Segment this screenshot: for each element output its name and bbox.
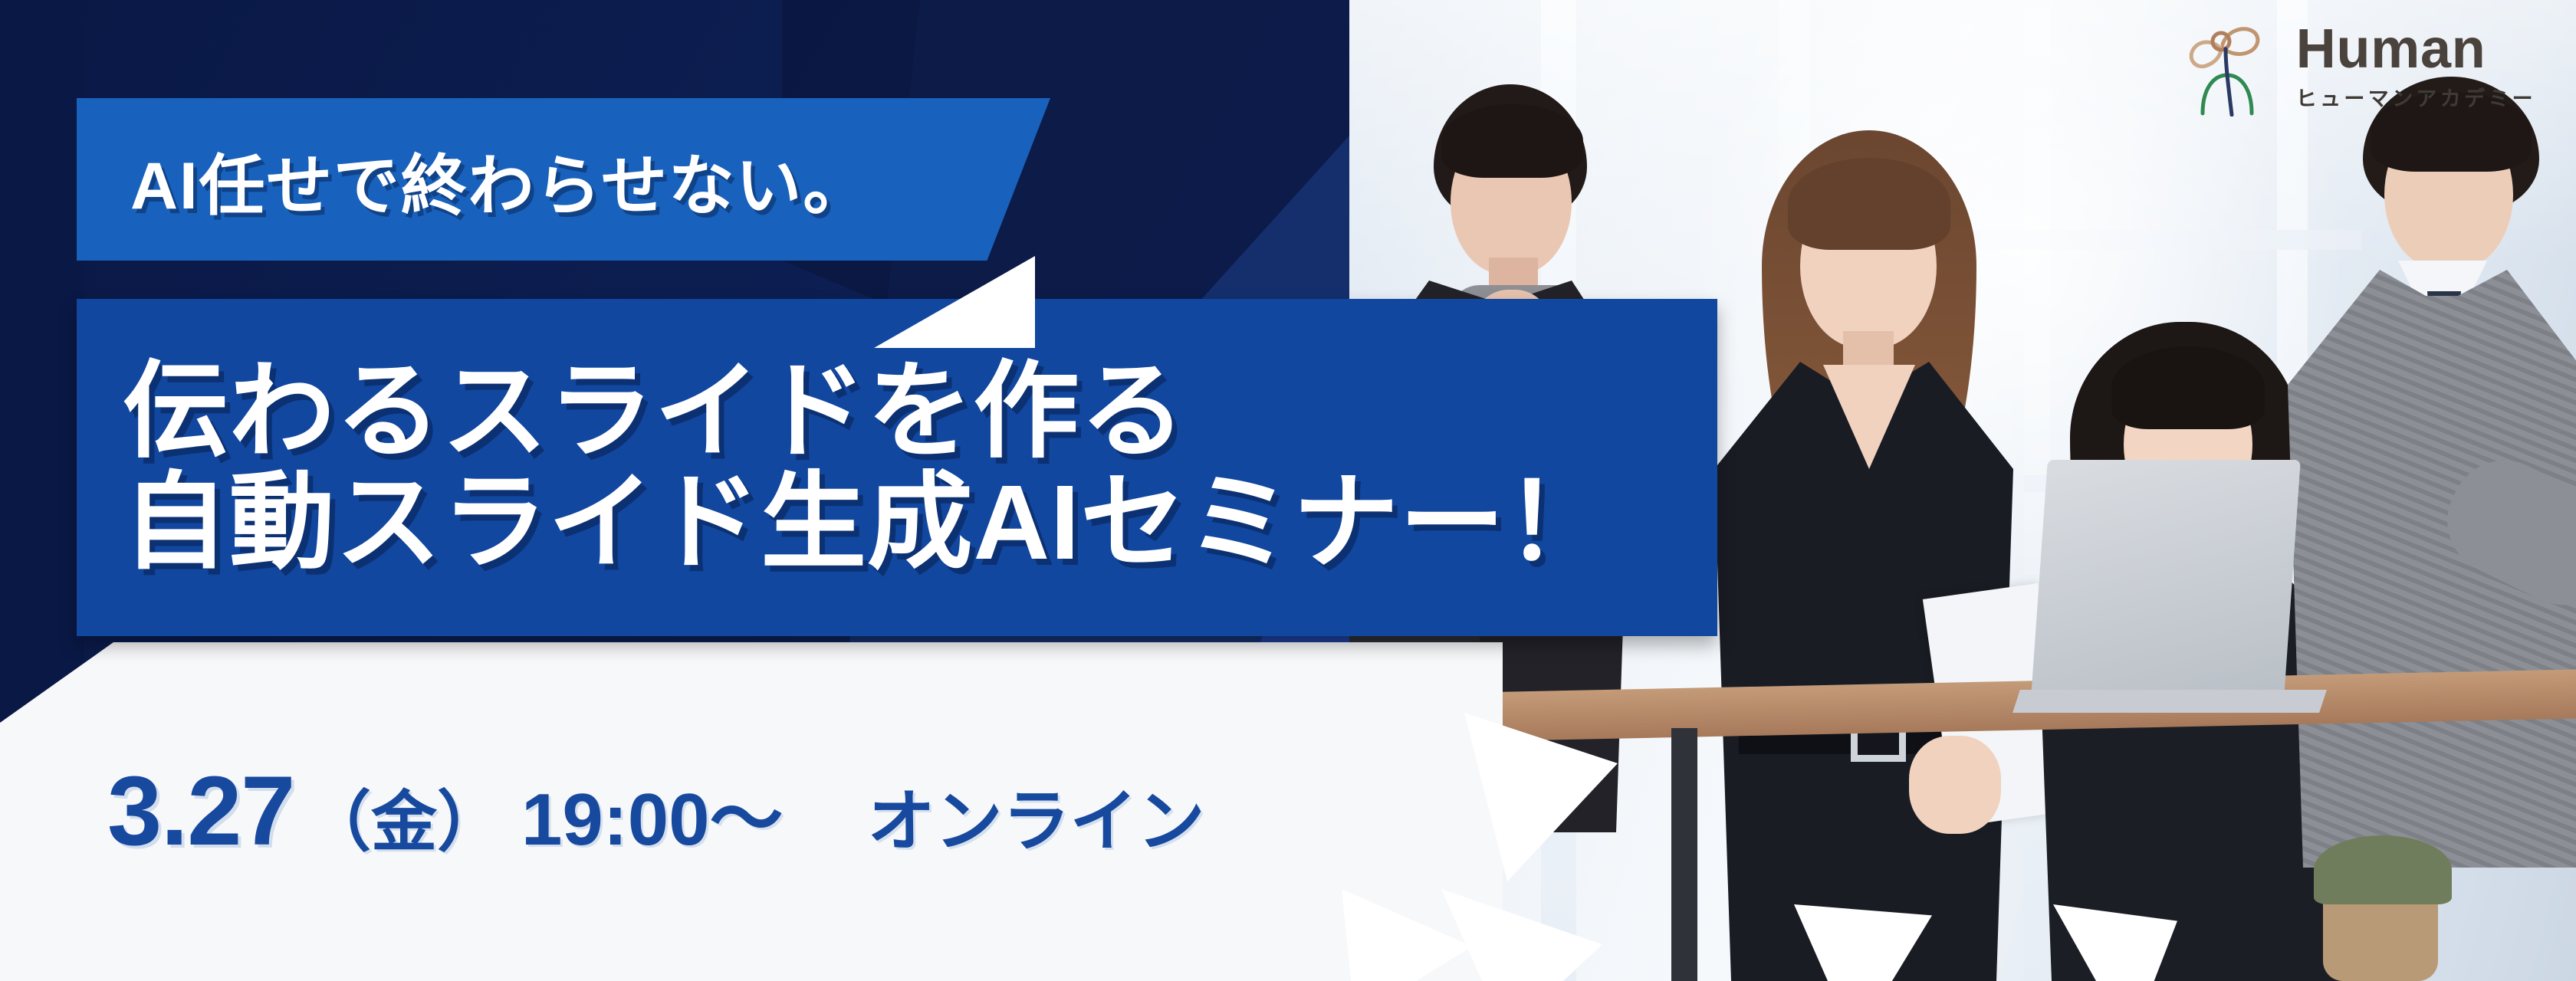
hair-front xyxy=(1788,158,1950,250)
event-details: 3.27 （金） 19:00〜 オンライン xyxy=(107,755,1205,868)
laptop-base xyxy=(2013,690,2327,713)
logo-subtext: ヒューマンアカデミー xyxy=(2296,82,2536,112)
human-academy-logo: Human ヒューマンアカデミー xyxy=(2186,18,2536,116)
hair-bangs xyxy=(2111,346,2265,429)
human-figure-loop-mark xyxy=(2186,18,2276,116)
event-date: 3.27 xyxy=(107,755,294,868)
headline-band: 伝わるスライドを作る 自動スライド生成AIセミナー！ xyxy=(77,299,1717,636)
table-leg xyxy=(1671,728,1697,981)
person-woman-standing-center xyxy=(1679,130,2039,981)
logo-type: Human ヒューマンアカデミー xyxy=(2296,23,2536,111)
event-time: 19:00〜 xyxy=(521,760,784,866)
headline-line-2: 自動スライド生成AIセミナー！ xyxy=(123,468,1717,579)
headline-line-1: 伝わるスライドを作る xyxy=(123,356,1717,468)
event-format: オンライン xyxy=(868,767,1205,865)
seminar-banner: AI任せで終わらせない。 伝わるスライドを作る 自動スライド生成AIセミナー！ … xyxy=(0,0,2576,981)
subheadline-band: AI任せで終わらせない。 xyxy=(77,98,1050,261)
laptop-screen xyxy=(2031,460,2301,697)
logo-wordmark: Human xyxy=(2296,23,2486,75)
event-weekday: （金） xyxy=(305,768,503,864)
hand xyxy=(1909,736,2001,834)
subheadline-text: AI任せで終わらせない。 xyxy=(130,132,870,228)
plant-leaves xyxy=(2314,835,2452,904)
